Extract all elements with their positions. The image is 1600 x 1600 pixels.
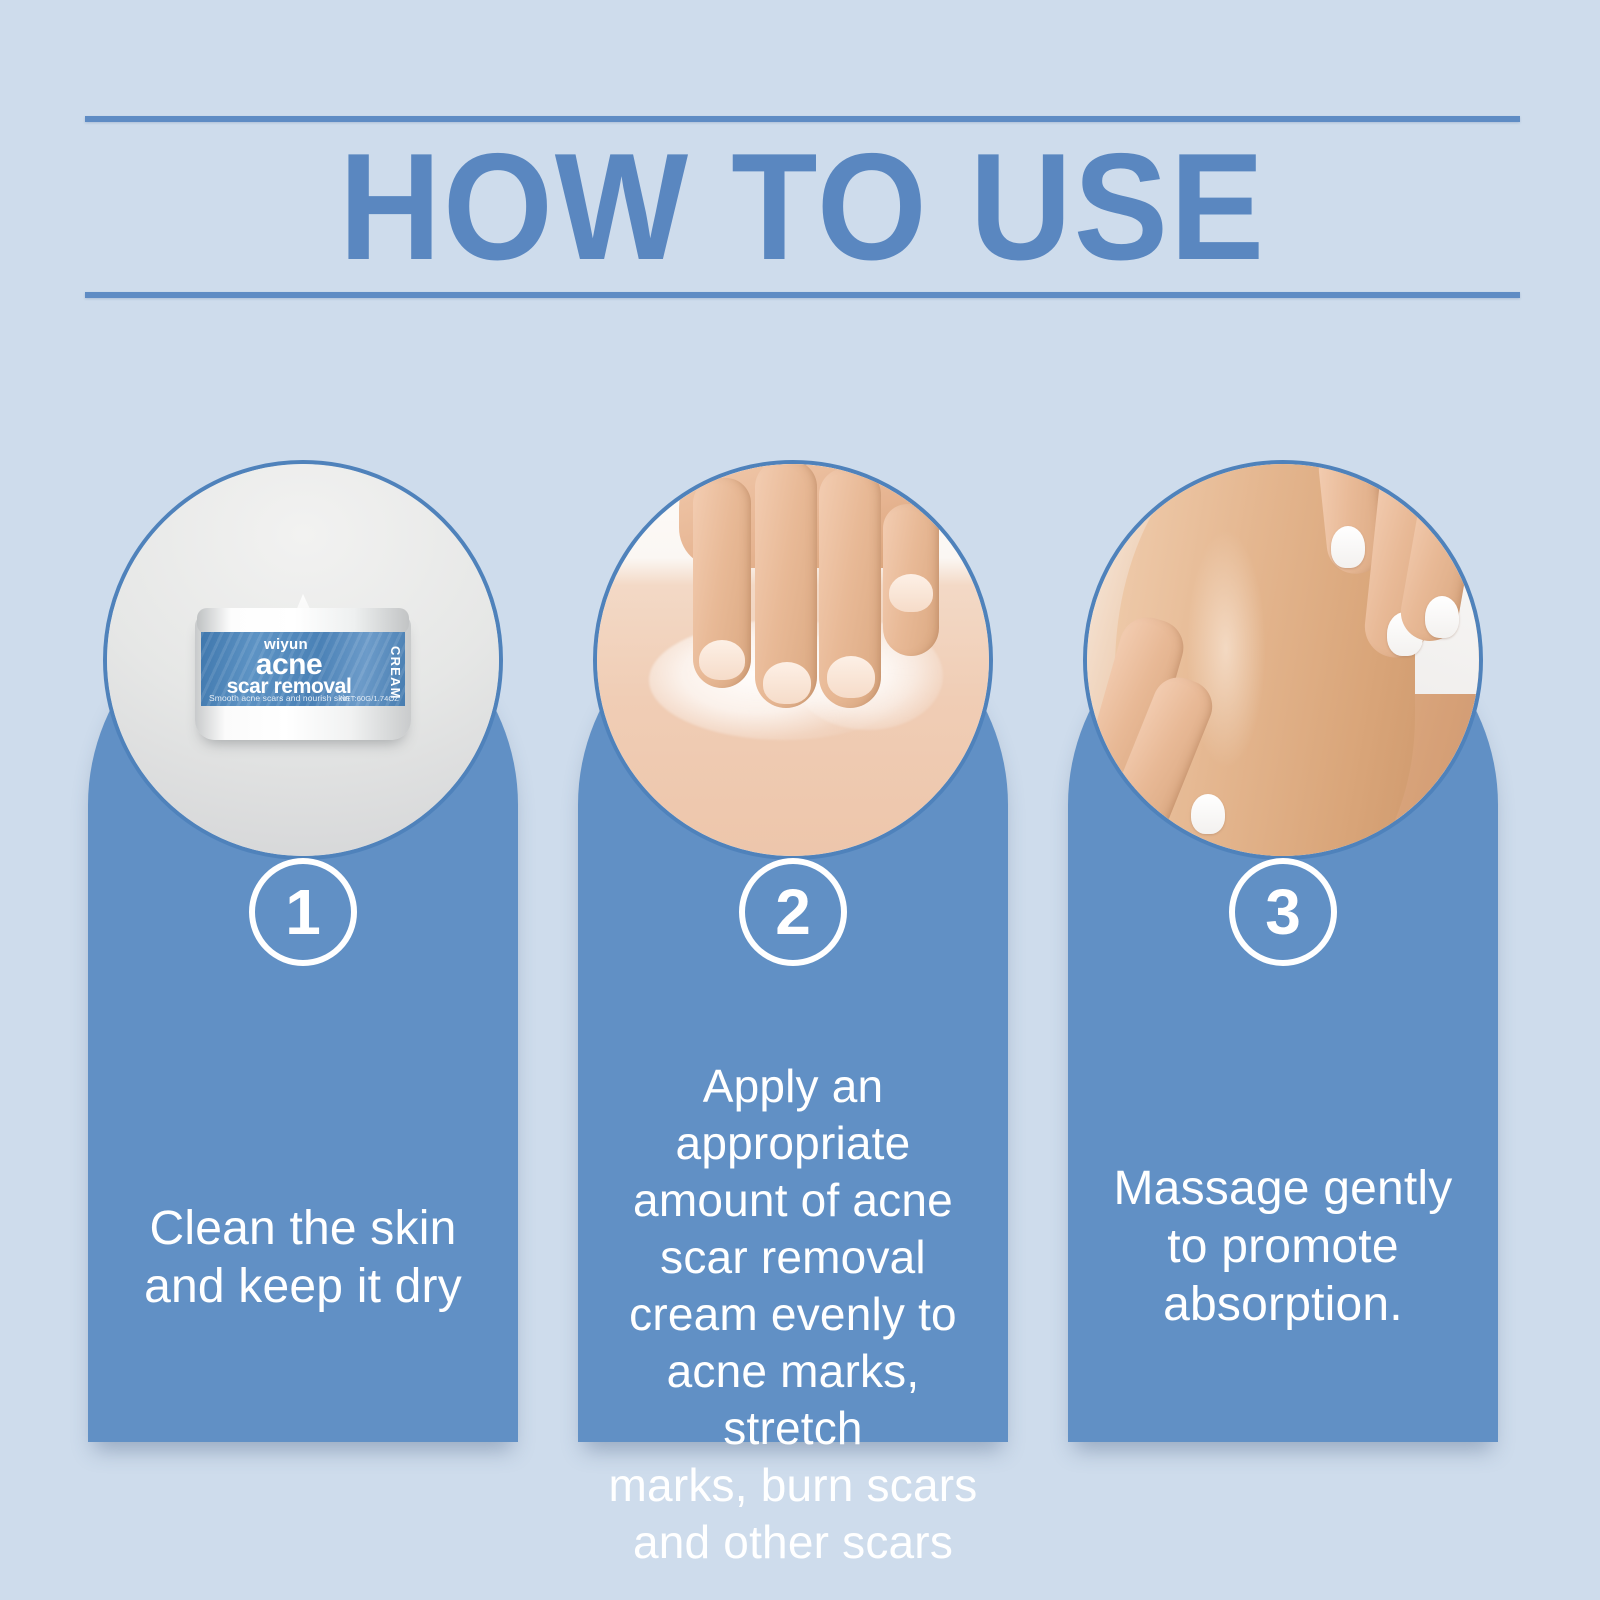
label-tagline: Smooth acne scars and nourish skin <box>209 693 349 703</box>
step-card-2[interactable]: 2 Apply an appropriate amount of acne sc… <box>578 590 1008 1442</box>
step-caption-3: Massage gently to promote absorption. <box>1086 1160 1480 1334</box>
cream-jar: wiyun acne scar removal CREAM Smooth acn… <box>195 592 411 740</box>
steps-container: wiyun acne scar removal CREAM Smooth acn… <box>0 430 1600 1490</box>
step-number-badge-2: 2 <box>739 858 847 966</box>
fingernail-4 <box>889 574 933 612</box>
upper-thumb-nail <box>1331 526 1365 568</box>
label-net-weight: NET:60G/1.74OZ <box>340 694 399 703</box>
lower-nail-2 <box>1191 794 1225 834</box>
page-title: HOW TO USE <box>135 122 1470 292</box>
step-number-badge-3: 3 <box>1229 858 1337 966</box>
title-rule-bottom <box>85 292 1520 298</box>
massaging-leg-photo <box>1083 460 1483 860</box>
apply-scene <box>597 464 989 856</box>
step-card-3[interactable]: 3 Massage gently to promote absorption. <box>1068 590 1498 1442</box>
jar-scene: wiyun acne scar removal CREAM Smooth acn… <box>107 464 499 856</box>
applying-cream-photo <box>593 460 993 860</box>
leg-scene <box>1087 464 1479 856</box>
step-card-1[interactable]: wiyun acne scar removal CREAM Smooth acn… <box>88 590 518 1442</box>
step-number-badge-1: 1 <box>249 858 357 966</box>
step-caption-1: Clean the skin and keep it dry <box>106 1200 500 1316</box>
upper-nail-2 <box>1425 596 1459 638</box>
page-header: HOW TO USE <box>85 108 1520 308</box>
label-product-type: CREAM <box>388 646 403 700</box>
fingernail-2 <box>763 662 811 704</box>
fingernail-3 <box>827 656 875 698</box>
product-jar-photo: wiyun acne scar removal CREAM Smooth acn… <box>103 460 503 860</box>
jar-label: wiyun acne scar removal CREAM Smooth acn… <box>201 632 405 706</box>
fingernail-1 <box>699 640 745 680</box>
jar-rim <box>197 608 409 634</box>
step-caption-2: Apply an appropriate amount of acne scar… <box>596 1058 990 1571</box>
